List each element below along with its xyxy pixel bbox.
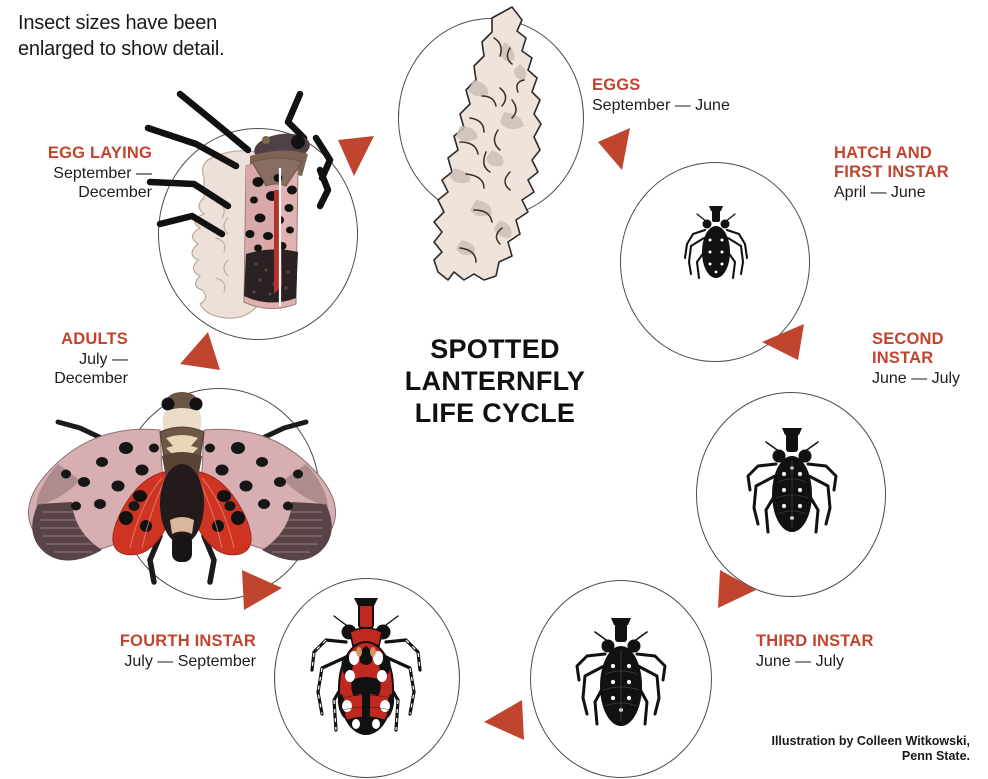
stage-title-eggs: EGGS [592,76,792,95]
stage-label-adults: ADULTS July — December [0,330,128,388]
stage-title-third-instar: THIRD INSTAR [756,632,956,651]
stage-title-adults: ADULTS [0,330,128,349]
egg-laying-adult-illustration [132,78,362,338]
page-title: SPOTTED LANTERNFLY LIFE CYCLE [390,334,600,430]
stage-dates-egg-laying: September — December [0,164,152,202]
stage-dates-fourth-instar: July — September [56,652,256,671]
stage-label-eggs: EGGS September — June [592,76,792,115]
arrow-third-to-fourth [482,698,528,744]
arrow-eggs-to-hatch [596,128,640,174]
stage-label-egg-laying: EGG LAYING September — December [0,144,152,202]
egg-mass-illustration [404,4,594,294]
fourth-instar-illustration [306,596,426,756]
stage-label-third-instar: THIRD INSTAR June — July [756,632,956,671]
stage-label-fourth-instar: FOURTH INSTAR July — September [56,632,256,671]
arrow-fourth-to-adults [238,568,286,614]
arrow-hatch-to-second [760,322,806,366]
stage-title-second-instar: SECOND INSTAR [872,330,988,368]
arrow-adults-to-egglaying [176,330,224,376]
arrow-egglaying-to-eggs [334,134,378,180]
stage-label-second-instar: SECOND INSTAR June — July [872,330,988,388]
stage-dates-hatch-first-instar: April — June [834,183,988,202]
adult-illustration [14,386,350,600]
stage-dates-second-instar: June — July [872,369,988,388]
first-instar-illustration [679,200,753,288]
size-disclaimer-note: Insect sizes have been enlarged to show … [18,10,224,62]
stage-label-hatch-first-instar: HATCH AND FIRST INSTAR April — June [834,144,988,202]
stage-title-hatch-first-instar: HATCH AND FIRST INSTAR [834,144,988,182]
stage-dates-third-instar: June — July [756,652,956,671]
stage-dates-adults: July — December [0,350,128,388]
spotted-lanternfly-life-cycle-infographic: Insect sizes have been enlarged to show … [0,0,988,779]
illustration-credit: Illustration by Colleen Witkowski, Penn … [771,734,970,765]
stage-title-fourth-instar: FOURTH INSTAR [56,632,256,651]
arrow-second-to-third [714,566,760,612]
second-instar-illustration [742,424,842,546]
third-instar-illustration [571,612,671,738]
stage-dates-eggs: September — June [592,96,792,115]
stage-title-egg-laying: EGG LAYING [0,144,152,163]
